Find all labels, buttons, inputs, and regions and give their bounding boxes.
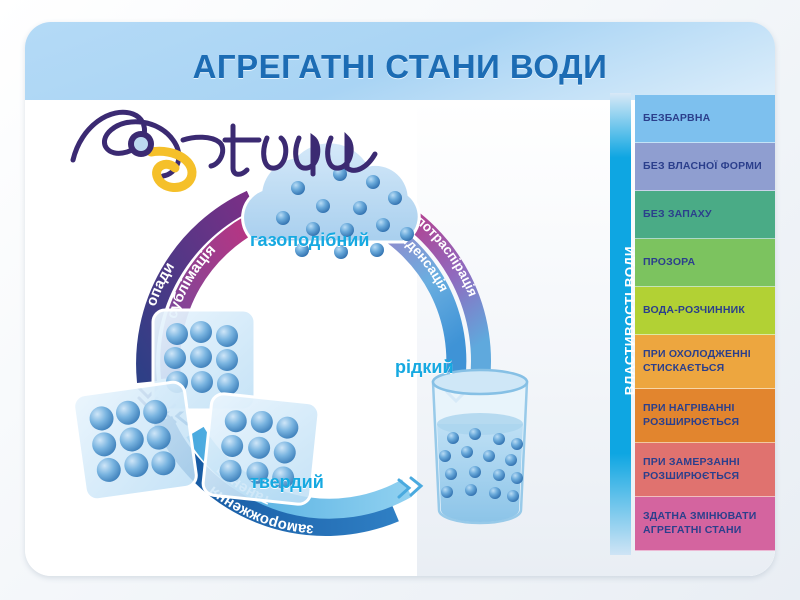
property-row: БЕЗ ЗАПАХУ (635, 191, 775, 239)
property-row: ПРИ ОХОЛОДЖЕННІ СТИСКАЄТЬСЯ (635, 335, 775, 389)
property-row: БЕЗБАРВНА (635, 95, 775, 143)
property-row-label: ПРИ ЗАМЕРЗАННІ РОЗШИРЮЄТЬСЯ (643, 456, 775, 482)
property-row: ПРИ НАГРІВАННІ РОЗШИРЮЄТЬСЯ (635, 389, 775, 443)
property-row-label: ПРОЗОРА (643, 256, 695, 269)
beaker-liquid-water (433, 370, 527, 523)
property-row-label: ВОДА-РОЗЧИННИК (643, 304, 745, 317)
water-properties-panel: ВЛАСТИВОСТІ ВОДИ БЕЗБАРВНАБЕЗ ВЛАСНОЇ ФО… (585, 93, 775, 555)
property-row-label: ЗДАТНА ЗМІНЮВАТИ АГРЕГАТНІ СТАНИ (643, 510, 775, 536)
property-row-label: БЕЗ ВЛАСНОЇ ФОРМИ (643, 160, 762, 173)
panel-accent-bar: ВЛАСТИВОСТІ ВОДИ (610, 93, 631, 555)
page-title: АГРЕГАТНІ СТАНИ ВОДИ (25, 48, 775, 86)
property-row-label: БЕЗБАРВНА (643, 112, 710, 125)
property-row-label: ПРИ НАГРІВАННІ РОЗШИРЮЄТЬСЯ (643, 402, 775, 428)
cycle-svg: опади сублімація евапотраспірація (55, 82, 595, 576)
poster-card: АГРЕГАТНІ СТАНИ ВОДИ (25, 22, 775, 576)
state-label-solid: твердий (250, 472, 324, 493)
water-cycle-diagram: опади сублімація евапотраспірація (55, 82, 595, 576)
state-label-liquid: рідкий (395, 357, 454, 378)
property-row: ПРИ ЗАМЕРЗАННІ РОЗШИРЮЄТЬСЯ (635, 443, 775, 497)
property-row: ВОДА-РОЗЧИННИК (635, 287, 775, 335)
state-label-gas: газоподібний (250, 230, 369, 251)
property-row-label: БЕЗ ЗАПАХУ (643, 208, 712, 221)
property-row-label: ПРИ ОХОЛОДЖЕННІ СТИСКАЄТЬСЯ (643, 348, 775, 374)
infographic-root: АГРЕГАТНІ СТАНИ ВОДИ (0, 0, 800, 600)
property-row: ЗДАТНА ЗМІНЮВАТИ АГРЕГАТНІ СТАНИ (635, 497, 775, 551)
property-row-list: БЕЗБАРВНАБЕЗ ВЛАСНОЇ ФОРМИБЕЗ ЗАПАХУПРОЗ… (635, 95, 775, 551)
property-row: БЕЗ ВЛАСНОЇ ФОРМИ (635, 143, 775, 191)
property-row: ПРОЗОРА (635, 239, 775, 287)
